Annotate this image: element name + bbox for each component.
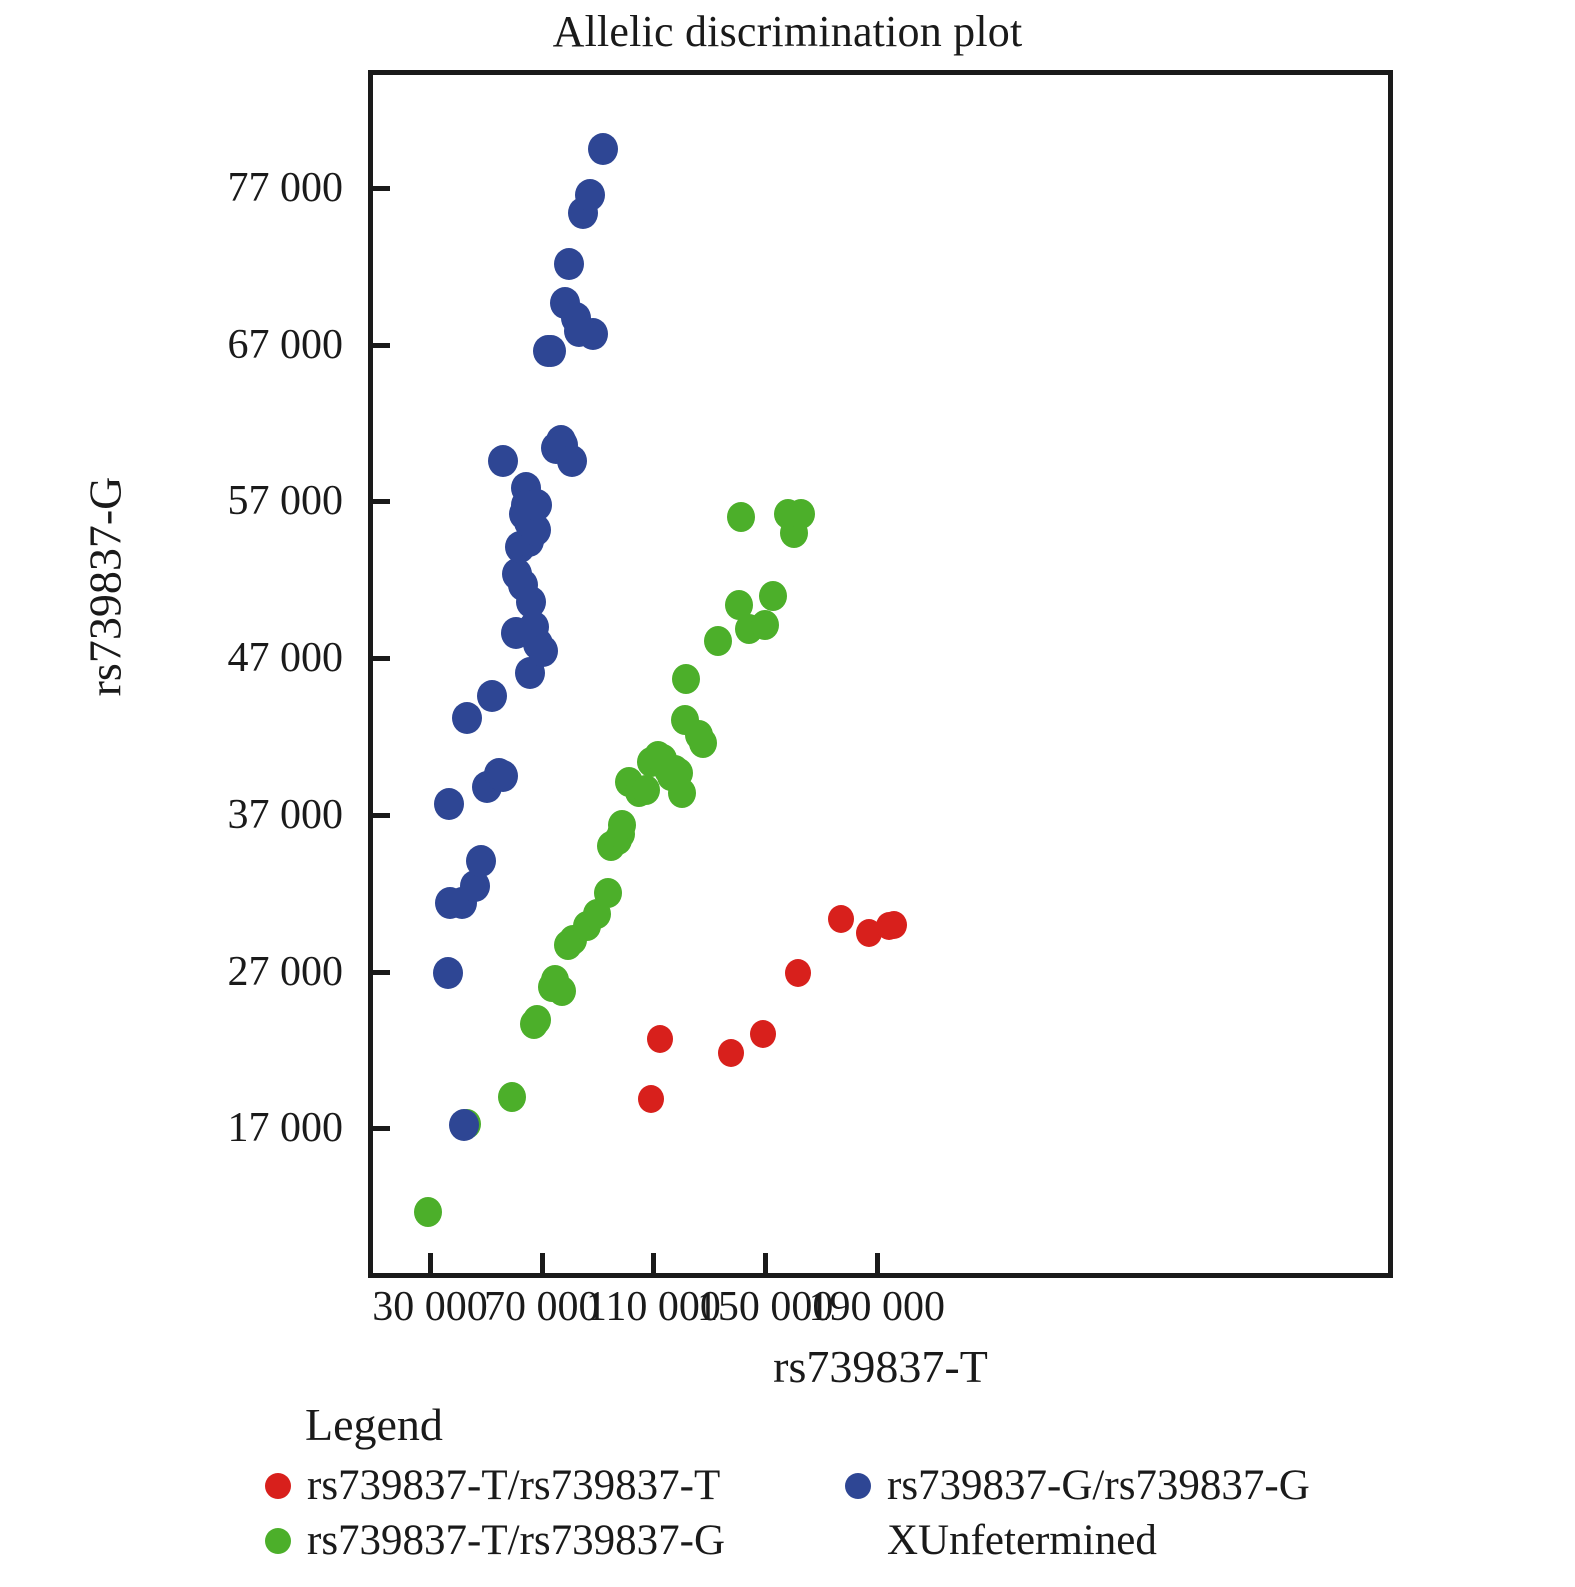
legend-marker-icon <box>265 1473 291 1499</box>
scatter-point <box>727 502 755 532</box>
x-axis-tick-label: 190 000 <box>809 1283 946 1331</box>
scatter-point <box>522 489 552 521</box>
y-axis-title: rs739837-G <box>79 377 132 797</box>
legend-marker-icon <box>265 1528 291 1554</box>
legend-item[interactable]: rs739837-G/rs739837-G <box>845 1463 1465 1508</box>
scatter-point <box>433 957 463 989</box>
scatter-point <box>759 581 787 611</box>
legend-entries: rs739837-T/rs739837-Trs739837-G/rs739837… <box>265 1463 1505 1563</box>
y-axis-tick-label: 27 000 <box>228 948 344 996</box>
scatter-point <box>632 775 660 805</box>
legend-item-label: rs739837-T/rs739837-G <box>307 1518 725 1563</box>
x-axis-tick-label: 30 000 <box>372 1283 488 1331</box>
scatter-point <box>414 1197 442 1227</box>
x-axis-title: rs739837-T <box>368 1340 1393 1393</box>
y-axis-tick <box>368 656 390 661</box>
legend: Legend rs739837-T/rs739837-Trs739837-G/r… <box>305 1398 1505 1563</box>
legend-item-label: rs739837-G/rs739837-G <box>887 1463 1310 1508</box>
legend-item[interactable]: XUnfetermined <box>845 1518 1465 1563</box>
y-axis-tick-label: 17 000 <box>228 1104 344 1152</box>
scatter-point <box>578 318 608 350</box>
scatter-point <box>638 1085 664 1113</box>
scatter-point <box>881 911 907 939</box>
y-axis-tick <box>368 1126 390 1131</box>
x-axis-tick-label: 70 000 <box>484 1283 600 1331</box>
scatter-point <box>668 778 696 808</box>
scatter-point <box>498 1082 526 1112</box>
scatter-point <box>689 728 717 758</box>
x-axis-tick <box>428 1253 433 1278</box>
x-axis-tick <box>875 1253 880 1278</box>
y-axis-tick-label: 77 000 <box>228 164 344 212</box>
scatter-points-layer <box>373 75 1388 1273</box>
plot-area <box>368 70 1393 1278</box>
y-axis-tick <box>368 186 390 191</box>
scatter-point <box>704 626 732 656</box>
legend-item-label: rs739837-T/rs739837-T <box>307 1463 720 1508</box>
y-axis-tick <box>368 343 390 348</box>
scatter-point <box>488 445 518 477</box>
scatter-point <box>608 810 636 840</box>
legend-item[interactable]: rs739837-T/rs739837-T <box>265 1463 845 1508</box>
scatter-point <box>787 499 815 529</box>
x-axis-tick <box>763 1253 768 1278</box>
legend-marker-placeholder <box>845 1528 871 1554</box>
scatter-point <box>575 179 605 211</box>
legend-marker-icon <box>845 1473 871 1499</box>
scatter-point <box>718 1039 744 1067</box>
scatter-point <box>528 635 558 667</box>
scatter-point <box>751 610 779 640</box>
scatter-point <box>548 976 576 1006</box>
scatter-point <box>828 905 854 933</box>
legend-item[interactable]: rs739837-T/rs739837-G <box>265 1518 845 1563</box>
y-axis-tick <box>368 970 390 975</box>
page-title: Allelic discrimination plot <box>0 6 1575 57</box>
scatter-point <box>750 1020 776 1048</box>
y-axis-tick-label: 57 000 <box>228 477 344 525</box>
scatter-point <box>452 702 482 734</box>
x-axis-tick <box>540 1253 545 1278</box>
legend-item-label: XUnfetermined <box>887 1518 1157 1563</box>
y-axis-tick-label: 67 000 <box>228 321 344 369</box>
scatter-point <box>434 788 464 820</box>
scatter-point <box>594 878 622 908</box>
y-axis-tick-label: 37 000 <box>228 791 344 839</box>
y-axis-tick <box>368 813 390 818</box>
scatter-point <box>488 760 518 792</box>
scatter-point <box>466 845 496 877</box>
scatter-point <box>523 1005 551 1035</box>
scatter-point <box>647 1025 673 1053</box>
scatter-point <box>557 445 587 477</box>
scatter-point <box>554 248 584 280</box>
scatter-point <box>536 335 566 367</box>
y-axis-tick <box>368 499 390 504</box>
scatter-point <box>785 959 811 987</box>
scatter-point <box>449 1109 479 1141</box>
legend-heading: Legend <box>305 1398 1505 1451</box>
y-axis-tick-label: 47 000 <box>228 634 344 682</box>
x-axis-tick <box>651 1253 656 1278</box>
scatter-point <box>477 680 507 712</box>
scatter-point <box>672 664 700 694</box>
scatter-point <box>588 133 618 165</box>
